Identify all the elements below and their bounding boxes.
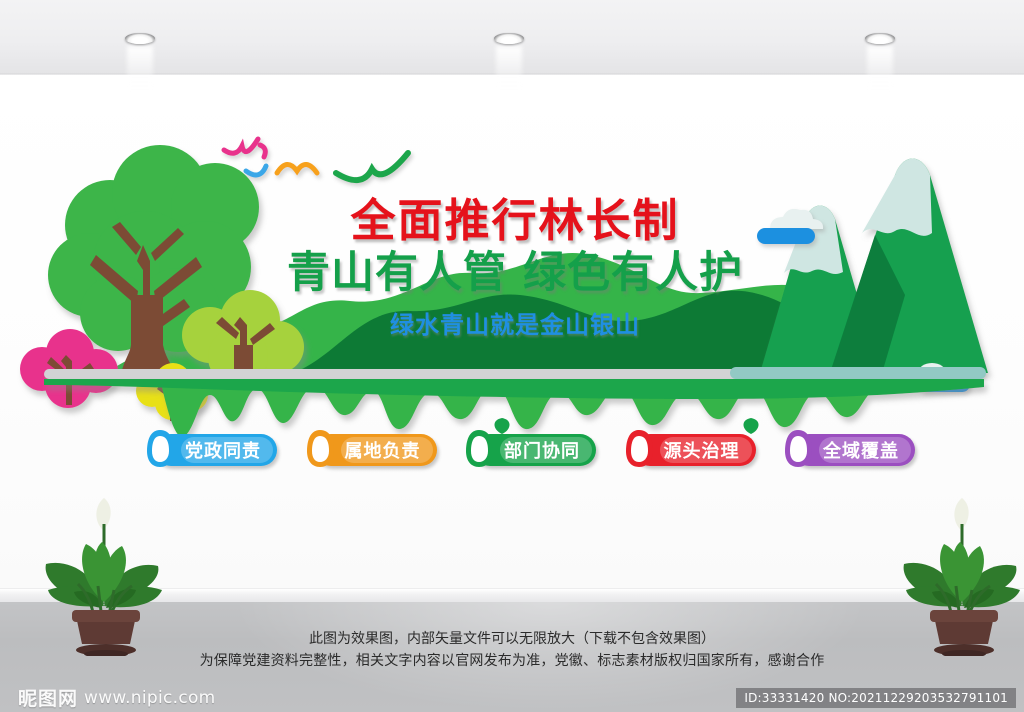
pill-leaf-tip-red (740, 418, 762, 439)
ceiling-light-beam-2 (496, 46, 522, 92)
bird-orange-icon (277, 164, 317, 173)
pill-label: 源头治理 (664, 437, 740, 463)
cloud-upper-bar (757, 228, 815, 244)
big-tree-trunk (131, 295, 163, 353)
pill-quanyu-fugai[interactable]: 全域覆盖 (793, 434, 915, 466)
ceiling-light-beam-3 (867, 46, 893, 92)
pill-leaf-tip-green (491, 418, 513, 439)
bird-pink-icon (224, 139, 258, 153)
leaf-icon (305, 427, 335, 469)
pill-yuantou-zhili[interactable]: 源头治理 (634, 434, 756, 466)
pill-shudi-fuze[interactable]: 属地负责 (315, 434, 437, 466)
ceiling-light-beam-1 (127, 46, 153, 92)
pill-label: 属地负责 (345, 437, 421, 463)
ceiling-light-1 (125, 33, 155, 44)
pill-label: 党政同责 (185, 437, 261, 463)
leaf-icon (624, 427, 654, 469)
ceiling-light-2 (494, 33, 524, 44)
screenshot-root: 全面推行林长制 青山有人管 绿色有人护 绿水青山就是金山银山 党政同责 属地负责… (0, 0, 1024, 712)
pill-label: 部门协同 (504, 437, 580, 463)
birds-group (224, 139, 408, 180)
water-line (730, 367, 986, 379)
bird-green-icon (336, 153, 408, 180)
pill-bumen-xietong[interactable]: 部门协同 (474, 434, 596, 466)
watermark: 昵图网 www.nipic.com (18, 684, 216, 711)
watermark-brand: 昵图网 (18, 684, 78, 711)
bird-pink-tail-icon (260, 145, 265, 157)
mountain-big-snowcap (862, 159, 932, 236)
ceiling-light-3 (865, 33, 895, 44)
footer-note-line-2: 为保障党建资料完整性，相关文字内容以官网发布为准，党徽、标志素材版权归国家所有，… (0, 650, 1024, 672)
pill-dangzheng-tongze[interactable]: 党政同责 (155, 434, 277, 466)
leaf-icon (464, 427, 494, 469)
watermark-url: www.nipic.com (84, 688, 216, 708)
asset-id-badge: ID:33331420 NO:20211229203532791101 (736, 688, 1016, 708)
footer-note-line-1: 此图为效果图，内部矢量文件可以无限放大（下载不包含效果图） (0, 628, 1024, 650)
slogan-pill-row: 党政同责 属地负责 部门协同 源头治理 (155, 425, 915, 475)
pill-label: 全域覆盖 (823, 437, 899, 463)
mountains-group (760, 159, 988, 374)
leaf-icon (145, 427, 175, 469)
bird-blue-icon (246, 166, 266, 175)
footer-notes: 此图为效果图，内部矢量文件可以无限放大（下载不包含效果图） 为保障党建资料完整性… (0, 628, 1024, 672)
leaf-icon (783, 427, 813, 469)
